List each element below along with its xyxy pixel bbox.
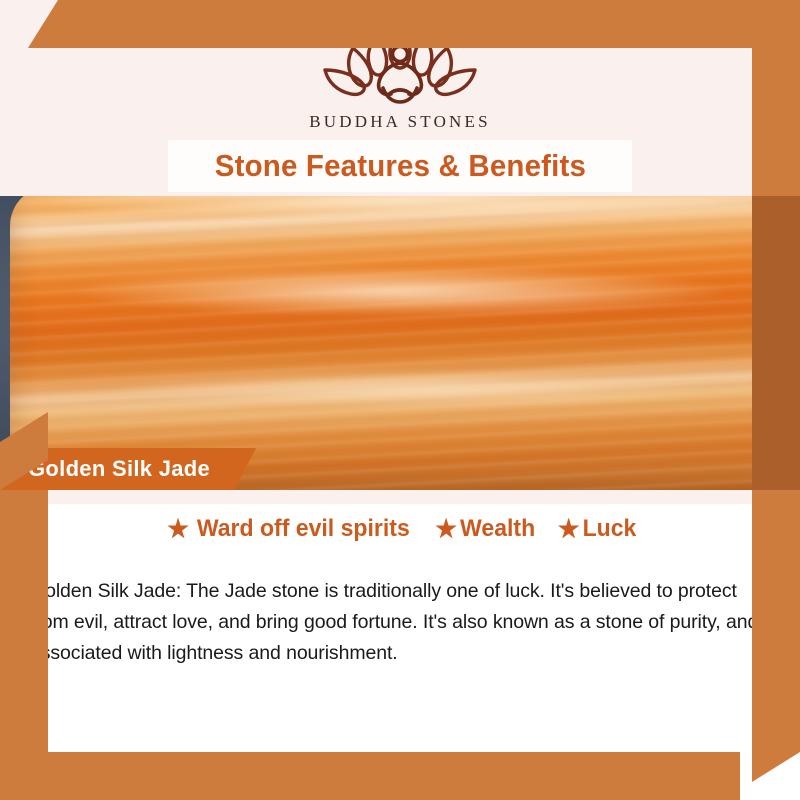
benefits-list: Ward off evil spirits Wealth Luck (0, 515, 800, 543)
benefit-label: Luck (582, 515, 636, 543)
benefit-label: Ward off evil spirits (197, 515, 410, 543)
product-info-card: BUDDHA STONES Stone Features & Benefits … (0, 0, 800, 800)
stone-banding-texture (10, 196, 790, 490)
body-top-divider (0, 490, 800, 504)
benefit-item: Ward off evil spirits (168, 515, 411, 543)
stone-photo (0, 196, 800, 490)
benefit-item: Luck (557, 515, 636, 543)
benefit-label: Wealth (460, 515, 535, 543)
description-text: Golden Silk Jade: The Jade stone is trad… (30, 576, 778, 669)
frame-bottom-bar (0, 752, 740, 800)
star-icon (435, 518, 457, 541)
page-title: Stone Features & Benefits (214, 148, 585, 184)
frame-shade-over-photo (752, 196, 800, 490)
star-icon (168, 518, 190, 541)
frame-top-bar (60, 0, 800, 48)
brand-name: BUDDHA STONES (0, 112, 800, 132)
stone-name: Golden Silk Jade (28, 456, 210, 482)
frame-left-bar (0, 490, 48, 800)
golden-silk-jade-stone (10, 196, 790, 490)
benefit-item: Wealth (435, 515, 535, 543)
stone-highlight-lower (119, 372, 712, 406)
stone-highlight-upper (72, 267, 727, 317)
star-icon (557, 518, 579, 541)
title-banner: Stone Features & Benefits (168, 140, 632, 192)
